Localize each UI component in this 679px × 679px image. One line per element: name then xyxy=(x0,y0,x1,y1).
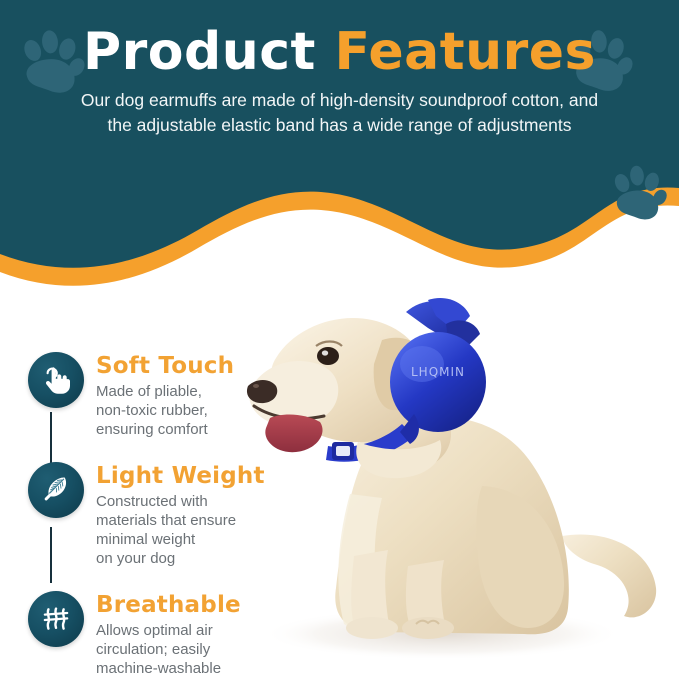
feature-desc-line: minimal weight xyxy=(96,531,265,550)
title-word-features: Features xyxy=(335,22,597,82)
feature-item-light-weight: Light Weight Constructed with materials … xyxy=(22,462,290,569)
feature-description: Made of pliable, non-toxic rubber, ensur… xyxy=(96,383,234,440)
product-features-infographic: LHQMIN xyxy=(0,0,679,679)
page-title: Product Features xyxy=(0,0,679,80)
title-word-product: Product xyxy=(83,22,316,82)
svg-text:LHQMIN: LHQMIN xyxy=(411,365,465,379)
header-block: Product Features Our dog earmuffs are ma… xyxy=(0,0,679,138)
feature-title: Light Weight xyxy=(96,464,265,489)
feature-desc-line: machine-washable xyxy=(96,660,241,679)
feature-description: Constructed with materials that ensure m… xyxy=(96,493,265,569)
feature-text-block: Soft Touch Made of pliable, non-toxic ru… xyxy=(90,352,234,440)
feature-text-block: Light Weight Constructed with materials … xyxy=(90,462,265,569)
feature-desc-line: Allows optimal air xyxy=(96,622,241,641)
feature-desc-line: Made of pliable, xyxy=(96,383,234,402)
feature-desc-line: materials that ensure xyxy=(96,512,265,531)
hand-tap-icon xyxy=(28,352,84,408)
feature-desc-line: on your dog xyxy=(96,550,265,569)
feature-desc-line: ensuring comfort xyxy=(96,421,234,440)
feature-text-block: Breathable Allows optimal air circulatio… xyxy=(90,591,241,679)
paw-print-icon xyxy=(606,160,668,226)
feature-title: Soft Touch xyxy=(96,354,234,379)
feature-title: Breathable xyxy=(96,593,241,618)
feature-item-soft-touch: Soft Touch Made of pliable, non-toxic ru… xyxy=(22,352,290,440)
product-photo-dog-with-earmuffs: LHQMIN xyxy=(232,236,679,679)
feature-desc-line: Constructed with xyxy=(96,493,265,512)
feature-desc-line: non-toxic rubber, xyxy=(96,402,234,421)
subtitle-line-2: the adjustable elastic band has a wide r… xyxy=(28,113,652,138)
feature-list: Soft Touch Made of pliable, non-toxic ru… xyxy=(22,352,290,679)
feather-icon xyxy=(28,462,84,518)
feature-icon-wrap xyxy=(22,591,90,647)
subtitle-line-1: Our dog earmuffs are made of high-densit… xyxy=(28,88,652,113)
feature-icon-wrap xyxy=(22,352,90,408)
feature-item-breathable: Breathable Allows optimal air circulatio… xyxy=(22,591,290,679)
feature-desc-line: circulation; easily xyxy=(96,641,241,660)
feature-icon-wrap xyxy=(22,462,90,518)
airflow-icon xyxy=(28,591,84,647)
page-subtitle: Our dog earmuffs are made of high-densit… xyxy=(28,88,652,138)
feature-description: Allows optimal air circulation; easily m… xyxy=(96,622,241,679)
